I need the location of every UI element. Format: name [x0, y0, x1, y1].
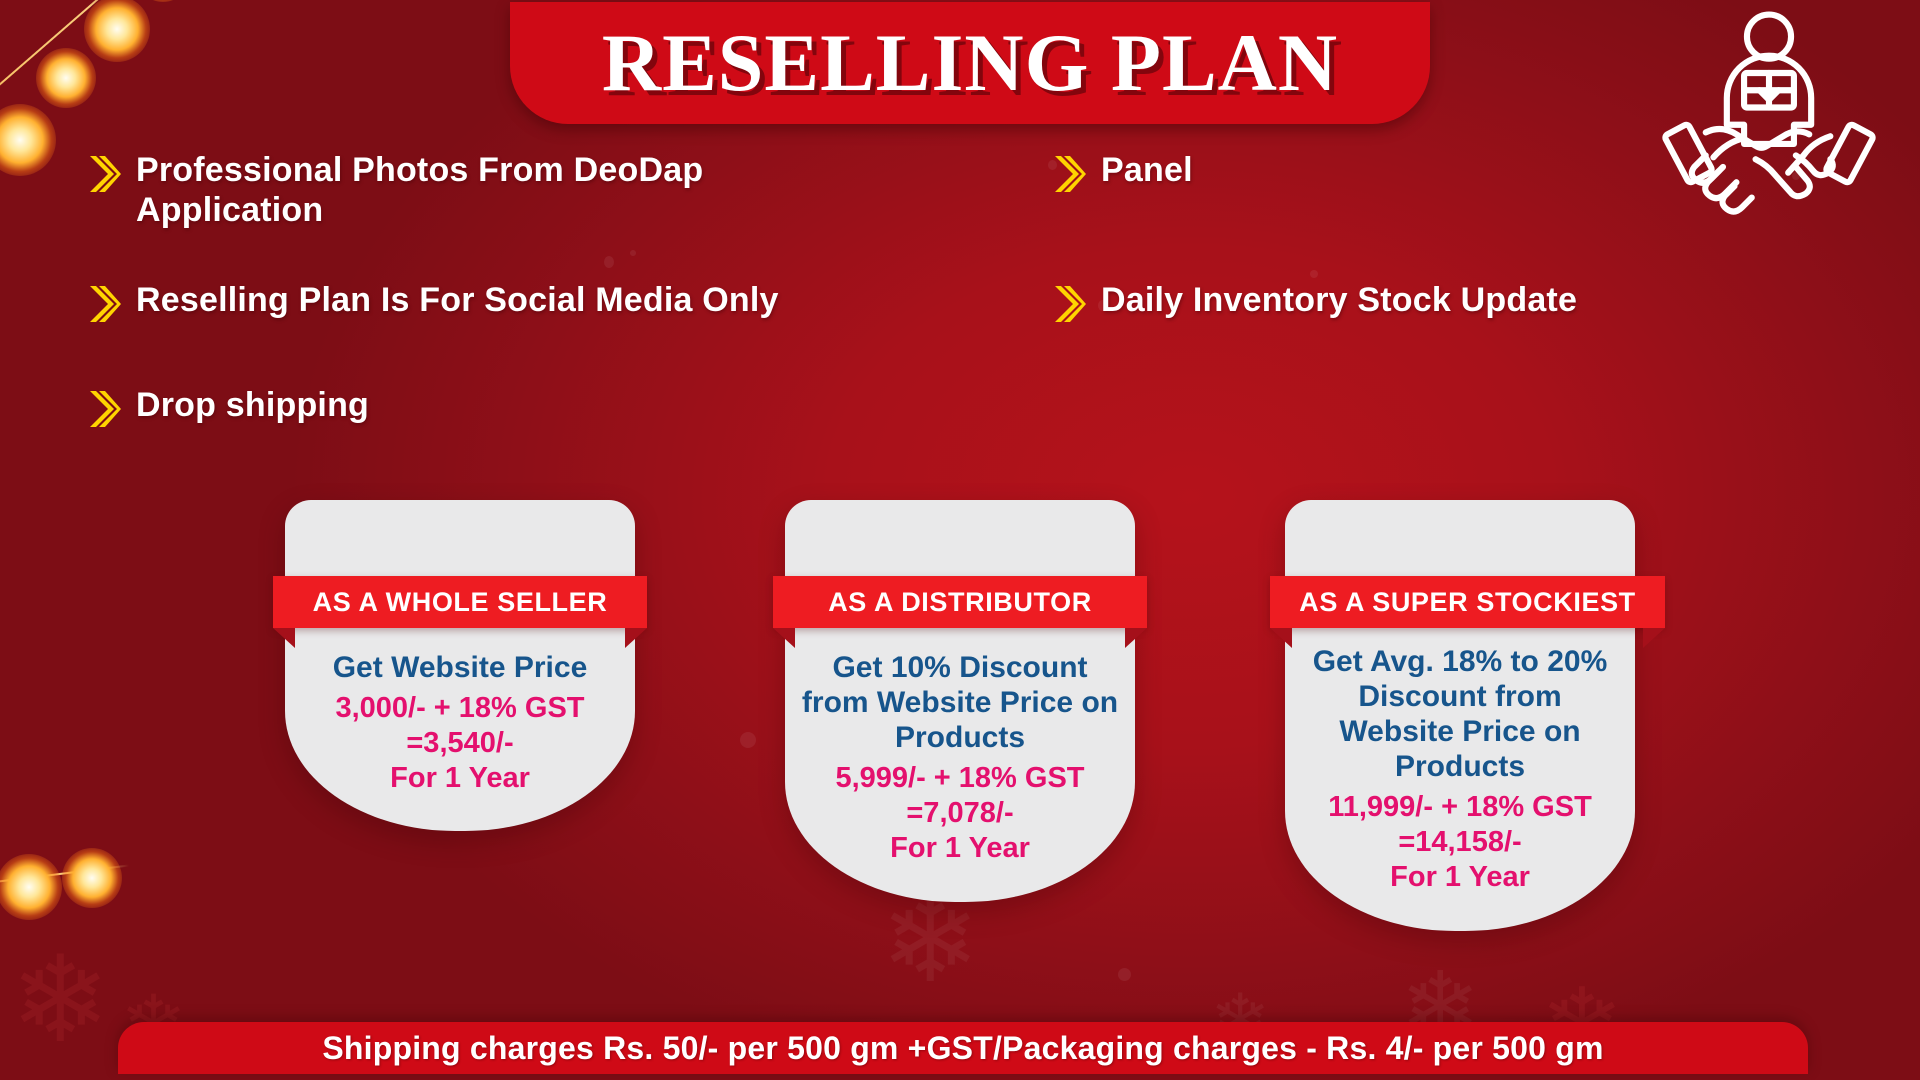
- card-cap: [285, 500, 635, 576]
- plan-heading: Get Website Price: [299, 650, 621, 685]
- footer-note: Shipping charges Rs. 50/- per 500 gm +GS…: [322, 1030, 1603, 1067]
- ribbon-wrap: AS A SUPER STOCKIEST: [1270, 576, 1665, 628]
- ribbon-wrap: AS A WHOLE SELLER: [273, 576, 647, 628]
- plan-duration-line: For 1 Year: [799, 831, 1121, 866]
- ribbon-fold-left: [773, 628, 795, 648]
- plan-duration-line: For 1 Year: [299, 761, 621, 796]
- card-body: Get Avg. 18% to 20% Discount from Websit…: [1285, 628, 1635, 931]
- plan-card-super-stockiest[interactable]: AS A SUPER STOCKIEST Get Avg. 18% to 20%…: [1285, 500, 1635, 931]
- plan-ribbon: AS A WHOLE SELLER: [273, 576, 647, 628]
- card-body: Get 10% Discount from Website Price on P…: [785, 628, 1135, 902]
- plan-duration-line: For 1 Year: [1299, 860, 1621, 895]
- plan-ribbon: AS A SUPER STOCKIEST: [1270, 576, 1665, 628]
- plan-ribbon-label: AS A SUPER STOCKIEST: [1299, 587, 1636, 618]
- plan-price-line: 11,999/- + 18% GST: [1299, 790, 1621, 825]
- ribbon-fold-right: [625, 628, 647, 648]
- plan-ribbon-label: AS A DISTRIBUTOR: [828, 587, 1092, 618]
- ribbon-fold-left: [273, 628, 295, 648]
- ribbon-fold-right: [1643, 628, 1665, 648]
- plan-price-line: 5,999/- + 18% GST: [799, 761, 1121, 796]
- plan-total-line: =14,158/-: [1299, 825, 1621, 860]
- plan-heading: Get 10% Discount from Website Price on P…: [799, 650, 1121, 755]
- plan-ribbon: AS A DISTRIBUTOR: [773, 576, 1147, 628]
- slide-canvas: ❄ ❄ ❄ ❄ ❄ ❄ RESELLING PLAN: [0, 0, 1920, 1080]
- plan-total-line: =7,078/-: [799, 796, 1121, 831]
- card-body: Get Website Price 3,000/- + 18% GST =3,5…: [285, 628, 635, 831]
- footer-banner: Shipping charges Rs. 50/- per 500 gm +GS…: [118, 1022, 1808, 1074]
- plan-card-distributor[interactable]: AS A DISTRIBUTOR Get 10% Discount from W…: [785, 500, 1135, 902]
- card-cap: [785, 500, 1135, 576]
- plan-price-line: 3,000/- + 18% GST: [299, 691, 621, 726]
- plan-heading: Get Avg. 18% to 20% Discount from Websit…: [1299, 644, 1621, 784]
- card-cap: [1285, 500, 1635, 576]
- plan-ribbon-label: AS A WHOLE SELLER: [313, 587, 608, 618]
- plan-total-line: =3,540/-: [299, 726, 621, 761]
- plan-card-group: AS A WHOLE SELLER Get Website Price 3,00…: [0, 0, 1920, 1080]
- plan-card-whole-seller[interactable]: AS A WHOLE SELLER Get Website Price 3,00…: [285, 500, 635, 831]
- ribbon-wrap: AS A DISTRIBUTOR: [773, 576, 1147, 628]
